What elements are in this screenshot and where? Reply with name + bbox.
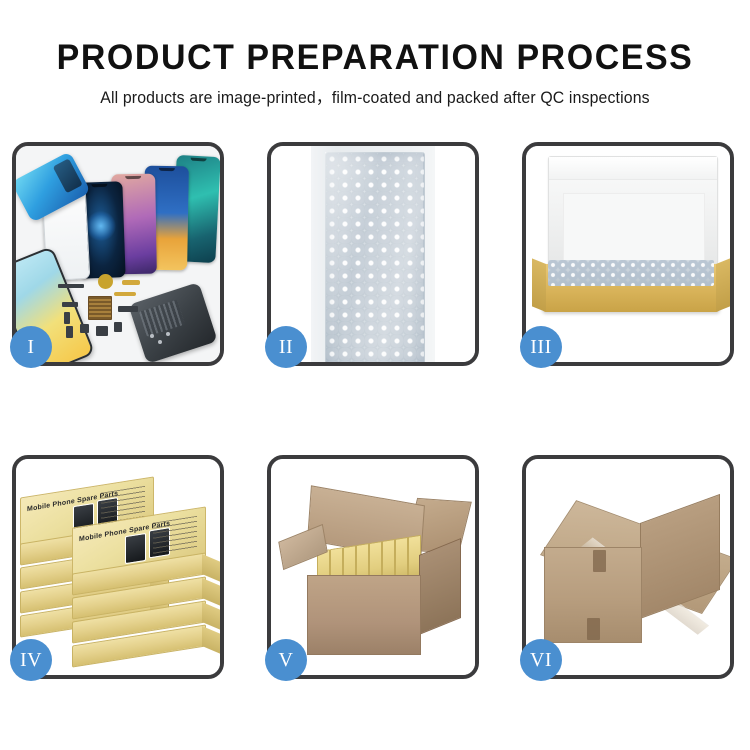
- screw-icon: [158, 340, 162, 344]
- step-badge-2: II: [265, 326, 307, 368]
- process-step-4[interactable]: Mobile Phone Spare Parts Mobile Phone Sp…: [12, 455, 224, 679]
- step-badge-3: III: [520, 326, 562, 368]
- flex-cable-icon: [114, 292, 136, 296]
- bracket-icon: [62, 302, 78, 307]
- speaker-icon: [96, 326, 108, 336]
- step-badge-5: V: [265, 639, 307, 681]
- spec-text-lines: [153, 516, 197, 555]
- page-header: PRODUCT PREPARATION PROCESS All products…: [0, 0, 750, 125]
- vibration-motor-icon: [98, 274, 113, 289]
- mailer-lid-icon: [548, 156, 718, 270]
- connector-grid-icon: [88, 296, 112, 320]
- jellyfish-wallpaper-icon: [85, 211, 116, 242]
- sim-tray-icon: [114, 322, 122, 332]
- step-badge-6: VI: [520, 639, 562, 681]
- step-1-image: [16, 146, 220, 362]
- small-parts-cluster: [58, 268, 198, 360]
- screw-icon: [150, 334, 154, 338]
- screw-icon: [166, 332, 170, 336]
- step-5-image: [271, 459, 475, 675]
- carton-side-icon: [419, 538, 461, 635]
- process-step-5[interactable]: V: [267, 455, 479, 679]
- process-step-grid: I II III Mobile Phone Spare Parts: [12, 142, 738, 682]
- carton-handle-icon: [587, 618, 600, 640]
- carton-seam-icon: [593, 550, 606, 572]
- bracket-icon: [64, 312, 70, 324]
- step-badge-4: IV: [10, 639, 52, 681]
- step-3-image: [526, 146, 730, 362]
- product-photo-icon: [125, 533, 146, 564]
- phone-notch-icon: [125, 176, 141, 179]
- sealed-carton-front-icon: [544, 547, 642, 643]
- phone-notch-icon: [191, 158, 207, 162]
- step-6-image: [526, 459, 730, 675]
- process-step-1[interactable]: I: [12, 142, 224, 366]
- step-4-image: Mobile Phone Spare Parts Mobile Phone Sp…: [16, 459, 220, 675]
- phone-notch-icon: [159, 168, 175, 171]
- step-badge-1: I: [10, 326, 52, 368]
- retail-box-side: [202, 626, 220, 654]
- earpiece-mesh-icon: [58, 284, 84, 288]
- flex-cable-icon: [122, 280, 140, 285]
- phone-notch-icon: [91, 184, 107, 188]
- page-title: PRODUCT PREPARATION PROCESS: [11, 38, 739, 78]
- mailer-lid-inner-panel: [563, 193, 705, 269]
- flex-cable-icon: [118, 306, 138, 312]
- button-icon: [66, 326, 73, 338]
- bubble-wrap-icon: [325, 152, 425, 362]
- bubble-wrapped-contents-icon: [548, 260, 714, 286]
- camera-module-icon: [80, 324, 89, 333]
- process-step-3[interactable]: III: [522, 142, 734, 366]
- process-step-6[interactable]: VI: [522, 455, 734, 679]
- process-step-2[interactable]: II: [267, 142, 479, 366]
- page-subtitle: All products are image-printed，film-coat…: [15, 84, 735, 108]
- carton-front-icon: [307, 575, 421, 655]
- step-2-image: [271, 146, 475, 362]
